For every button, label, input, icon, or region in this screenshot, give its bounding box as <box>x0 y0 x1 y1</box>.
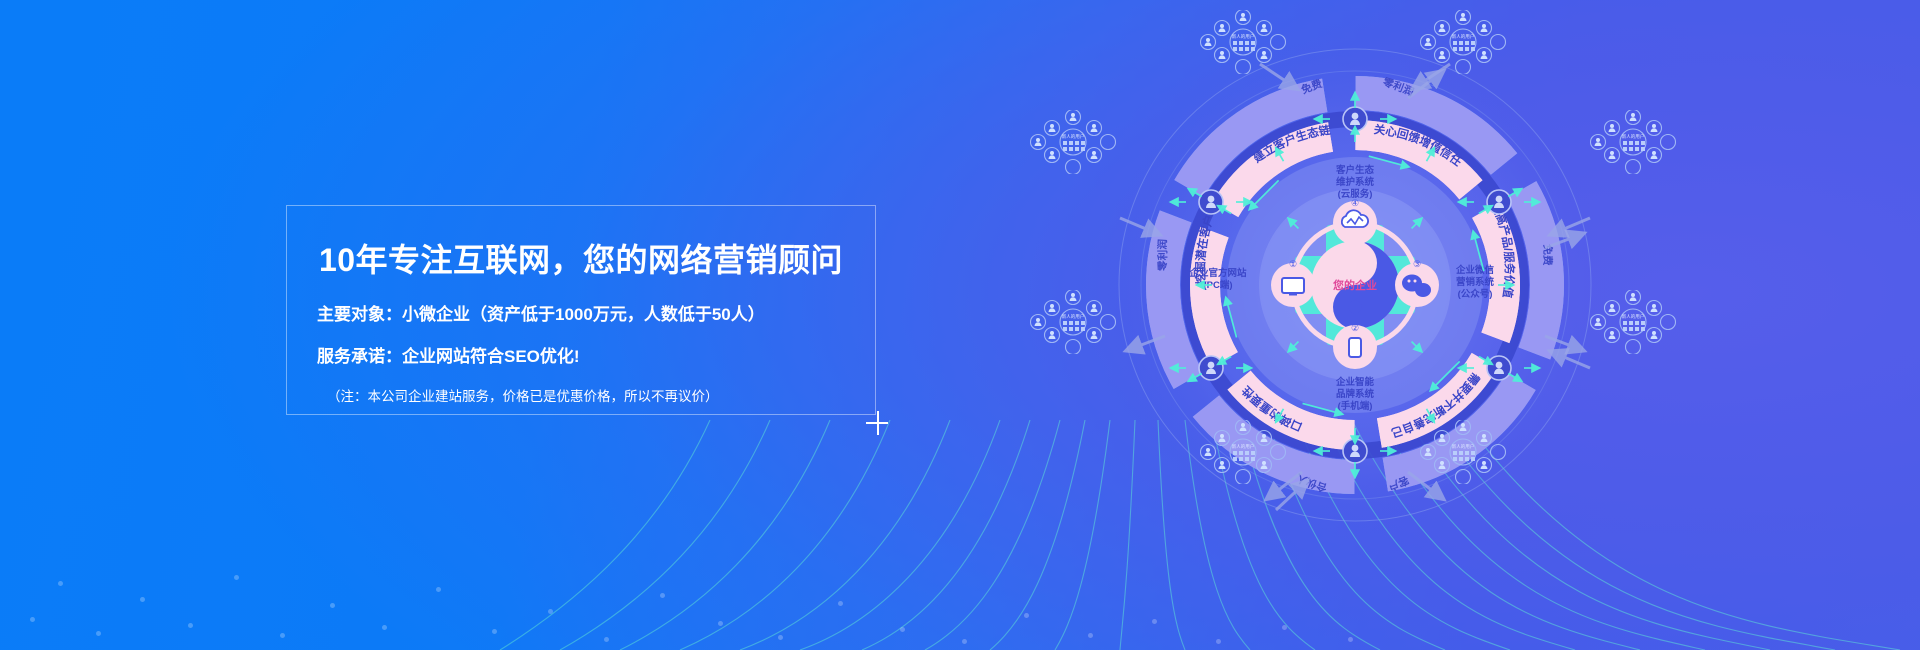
user-cluster: 新人的用户 <box>1030 110 1116 174</box>
service-promise-line: 服务承诺：企业网站符合SEO优化! <box>317 348 845 365</box>
user-cluster: 新人的用户 <box>1590 290 1676 354</box>
svg-text:营销系统: 营销系统 <box>1456 276 1495 288</box>
svg-text:维护系统: 维护系统 <box>1336 176 1375 188</box>
promo-panel: 10年专注互联网，您的网络营销顾问 主要对象：小微企业（资产低于1000万元，人… <box>286 205 876 415</box>
svg-text:品牌系统: 品牌系统 <box>1336 388 1375 400</box>
svg-text:①: ① <box>1289 259 1297 269</box>
page-title: 10年专注互联网，您的网络营销顾问 <box>317 244 845 276</box>
svg-text:新人的用户: 新人的用户 <box>1062 313 1085 320</box>
svg-text:(公众号): (公众号) <box>1458 288 1493 300</box>
svg-text:新人的用户: 新人的用户 <box>1232 33 1255 40</box>
svg-text:新人的用户: 新人的用户 <box>1452 443 1475 450</box>
center-label: 您的企业 <box>1333 278 1377 292</box>
svg-text:企业智能: 企业智能 <box>1335 376 1375 388</box>
outer-ring-label-5: 零利润 <box>1156 239 1170 272</box>
user-cluster: 新人的用户 <box>1420 10 1506 74</box>
decorative-dots <box>0 500 1920 650</box>
svg-text:②: ② <box>1351 323 1359 333</box>
svg-text:(手机端): (手机端) <box>1338 400 1373 412</box>
user-cluster: 新人的用户 <box>1420 420 1506 484</box>
price-note: （注：本公司企业建站服务，价格已是优惠价格，所以不再议价） <box>317 390 845 404</box>
svg-text:新人的用户: 新人的用户 <box>1622 313 1645 320</box>
svg-text:新人的用户: 新人的用户 <box>1452 33 1475 40</box>
svg-text:③: ③ <box>1413 259 1421 269</box>
user-cluster: 新人的用户 <box>1200 420 1286 484</box>
svg-text:新人的用户: 新人的用户 <box>1232 443 1255 450</box>
svg-text:(云服务): (云服务) <box>1338 188 1373 200</box>
decorative-curves <box>0 420 1920 650</box>
user-cluster: 新人的用户 <box>1200 10 1286 74</box>
svg-text:新人的用户: 新人的用户 <box>1062 133 1085 140</box>
svg-text:客户生态: 客户生态 <box>1335 164 1375 176</box>
ecosystem-diagram: 您的企业 ① 企业官方网站 (PC端) ② 企业智能 品牌系统 (手机端) <box>1090 20 1620 550</box>
target-audience-line: 主要对象：小微企业（资产低于1000万元，人数低于50人） <box>317 306 845 323</box>
user-cluster: 新人的用户 <box>1030 290 1116 354</box>
svg-text:企业微信: 企业微信 <box>1455 264 1495 276</box>
svg-text:新人的用户: 新人的用户 <box>1622 133 1645 140</box>
banner-stage: 10年专注互联网，您的网络营销顾问 主要对象：小微企业（资产低于1000万元，人… <box>0 0 1920 650</box>
user-cluster: 新人的用户 <box>1590 110 1676 174</box>
